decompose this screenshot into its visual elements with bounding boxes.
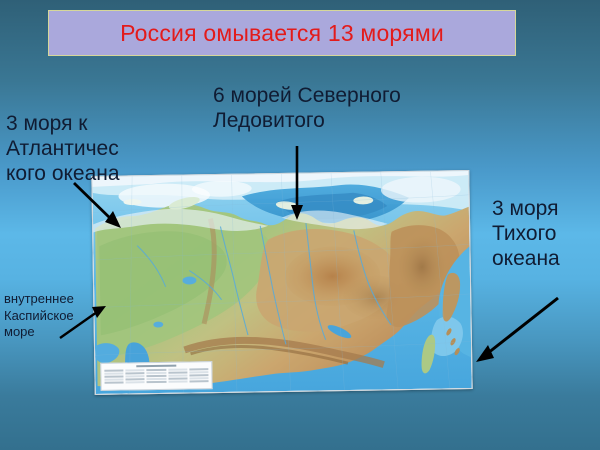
arrow-pacific xyxy=(476,298,558,362)
atlantic-ocean-label: 3 моря к Атлантичес кого океана xyxy=(6,112,120,186)
map-container[interactable] xyxy=(91,170,472,395)
map-graphic xyxy=(92,171,471,394)
title-banner: Россия омывается 13 морями xyxy=(48,10,516,56)
pacific-ocean-label: 3 моря Тихого океана xyxy=(492,197,560,271)
caspian-sea-label: внутреннее Каспийское море xyxy=(4,291,74,341)
map-legend xyxy=(100,361,212,391)
slide-canvas: Россия омывается 13 морями xyxy=(0,0,600,450)
page-title: Россия омывается 13 морями xyxy=(120,22,444,45)
physical-map-of-russia[interactable] xyxy=(91,170,472,395)
arctic-ocean-label: 6 морей Северного Ледовитого xyxy=(213,84,401,134)
